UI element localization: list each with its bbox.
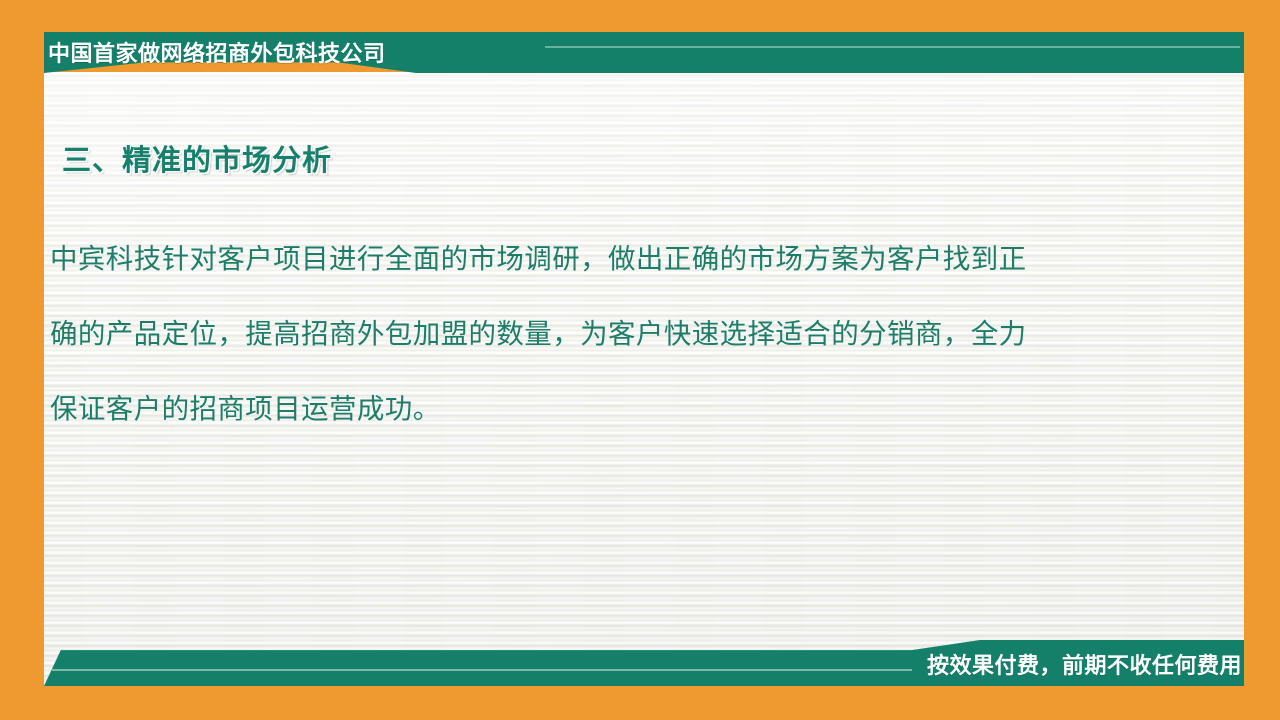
footer-divider-line [52,669,912,671]
paragraph-line: 保证客户的招商项目运营成功。 [50,372,1190,447]
paragraph-line: 中宾科技针对客户项目进行全面的市场调研，做出正确的市场方案为客户找到正 [50,222,1190,297]
footer-tagline: 按效果付费，前期不收任何费用 [927,648,1242,680]
header-title: 中国首家做网络招商外包科技公司 [48,35,386,69]
presentation-slide: 中国首家做网络招商外包科技公司 三、精准的市场分析 中宾科技针对客户项目进行全面… [0,0,1280,720]
paragraph-line: 确的产品定位，提高招商外包加盟的数量，为客户快速选择适合的分销商，全力 [50,297,1190,372]
section-heading: 三、精准的市场分析 [62,137,332,179]
header-divider-line [545,46,1240,48]
body-paragraph: 中宾科技针对客户项目进行全面的市场调研，做出正确的市场方案为客户找到正 确的产品… [50,222,1190,447]
